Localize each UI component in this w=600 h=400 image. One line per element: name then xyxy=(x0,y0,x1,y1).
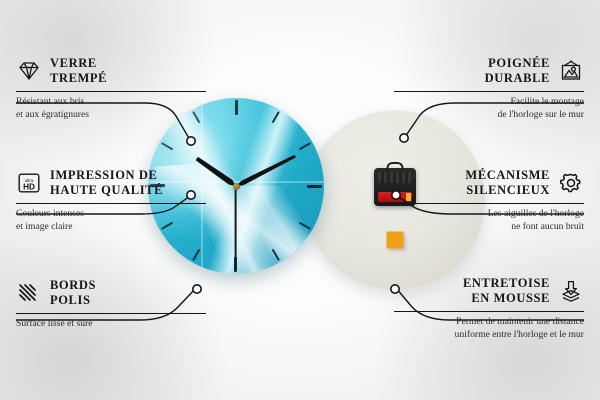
feature-desc-line2: ne font aucun bruit xyxy=(394,221,584,234)
feature-desc-line1: Facilite le montage xyxy=(394,96,584,109)
diagonal-stripes-icon xyxy=(16,281,42,305)
feature-desc-line1: Surface lisse et sûre xyxy=(16,318,206,331)
callout-dot-verre xyxy=(187,137,195,145)
feature-desc-line2: et image claire xyxy=(16,221,206,234)
feature-description: Surface lisse et sûre xyxy=(16,318,206,331)
feature-divider xyxy=(16,313,206,315)
ultra-hd-badge-icon: ultra HD xyxy=(16,171,42,195)
feature-header: POIGNÉE DURABLE xyxy=(394,56,584,87)
feature-bords-polis: BORDS POLIS Surface lisse et sûre xyxy=(16,278,206,331)
feature-header: ENTRETOISE EN MOUSSE xyxy=(394,276,584,307)
gear-icon xyxy=(558,171,584,195)
picture-frame-icon xyxy=(558,59,584,83)
diamond-icon xyxy=(16,59,42,83)
feature-title-line2: TREMPÉ xyxy=(50,71,107,86)
feature-verre-trempe: VERRE TREMPÉ Résistant aux bris et aux é… xyxy=(16,56,206,122)
feature-divider xyxy=(16,203,206,205)
feature-impression-haute-qualite: ultra HD IMPRESSION DE HAUTE QUALITÉ Cou… xyxy=(16,168,206,234)
infographic-canvas: VERRE TREMPÉ Résistant aux bris et aux é… xyxy=(0,0,600,400)
feature-desc-line2: uniforme entre l'horloge et le mur xyxy=(394,329,584,342)
feature-description: Les aiguilles de l'horloge ne font aucun… xyxy=(394,208,584,234)
feature-desc-line1: Permet de maintenir une distance xyxy=(394,316,584,329)
feature-desc-line1: Les aiguilles de l'horloge xyxy=(394,208,584,221)
feature-entretoise-en-mousse: ENTRETOISE EN MOUSSE Permet de maintenir… xyxy=(394,276,584,342)
feature-title-line1: IMPRESSION DE xyxy=(50,168,163,183)
feature-description: Résistant aux bris et aux égratignures xyxy=(16,96,206,122)
feature-title: MÉCANISME SILENCIEUX xyxy=(465,168,550,199)
feature-description: Facilite le montage de l'horloge sur le … xyxy=(394,96,584,122)
feature-title: BORDS POLIS xyxy=(50,278,96,309)
feature-desc-line2: et aux égratignures xyxy=(16,109,206,122)
feature-divider xyxy=(16,91,206,93)
feature-desc-line1: Couleurs intenses xyxy=(16,208,206,221)
feature-divider xyxy=(394,91,584,93)
feature-title-line2: SILENCIEUX xyxy=(465,183,550,198)
callout-dot-poignee xyxy=(400,134,408,142)
svg-text:HD: HD xyxy=(23,183,35,192)
feature-title-line1: MÉCANISME xyxy=(465,168,550,183)
feature-title-line1: BORDS xyxy=(50,278,96,293)
feature-poignee-durable: POIGNÉE DURABLE Facilite le montage de l… xyxy=(394,56,584,122)
feature-description: Permet de maintenir une distance uniform… xyxy=(394,316,584,342)
feature-title: IMPRESSION DE HAUTE QUALITÉ xyxy=(50,168,163,199)
feature-header: ultra HD IMPRESSION DE HAUTE QUALITÉ xyxy=(16,168,206,199)
feature-title-line1: VERRE xyxy=(50,56,107,71)
feature-header: VERRE TREMPÉ xyxy=(16,56,206,87)
arrow-down-layers-icon xyxy=(558,279,584,303)
feature-header: BORDS POLIS xyxy=(16,278,206,309)
feature-divider xyxy=(394,311,584,313)
feature-divider xyxy=(394,203,584,205)
feature-header: MÉCANISME SILENCIEUX xyxy=(394,168,584,199)
feature-title-line2: POLIS xyxy=(50,293,96,308)
feature-mecanisme-silencieux: MÉCANISME SILENCIEUX Les aiguilles de l'… xyxy=(394,168,584,234)
feature-desc-line2: de l'horloge sur le mur xyxy=(394,109,584,122)
feature-desc-line1: Résistant aux bris xyxy=(16,96,206,109)
feature-title-line2: DURABLE xyxy=(485,71,550,86)
feature-title: POIGNÉE DURABLE xyxy=(485,56,550,87)
feature-title-line1: ENTRETOISE xyxy=(463,276,550,291)
feature-description: Couleurs intenses et image claire xyxy=(16,208,206,234)
feature-title-line2: HAUTE QUALITÉ xyxy=(50,183,163,198)
feature-title-line2: EN MOUSSE xyxy=(463,291,550,306)
feature-title: VERRE TREMPÉ xyxy=(50,56,107,87)
feature-title-line1: POIGNÉE xyxy=(485,56,550,71)
feature-title: ENTRETOISE EN MOUSSE xyxy=(463,276,550,307)
